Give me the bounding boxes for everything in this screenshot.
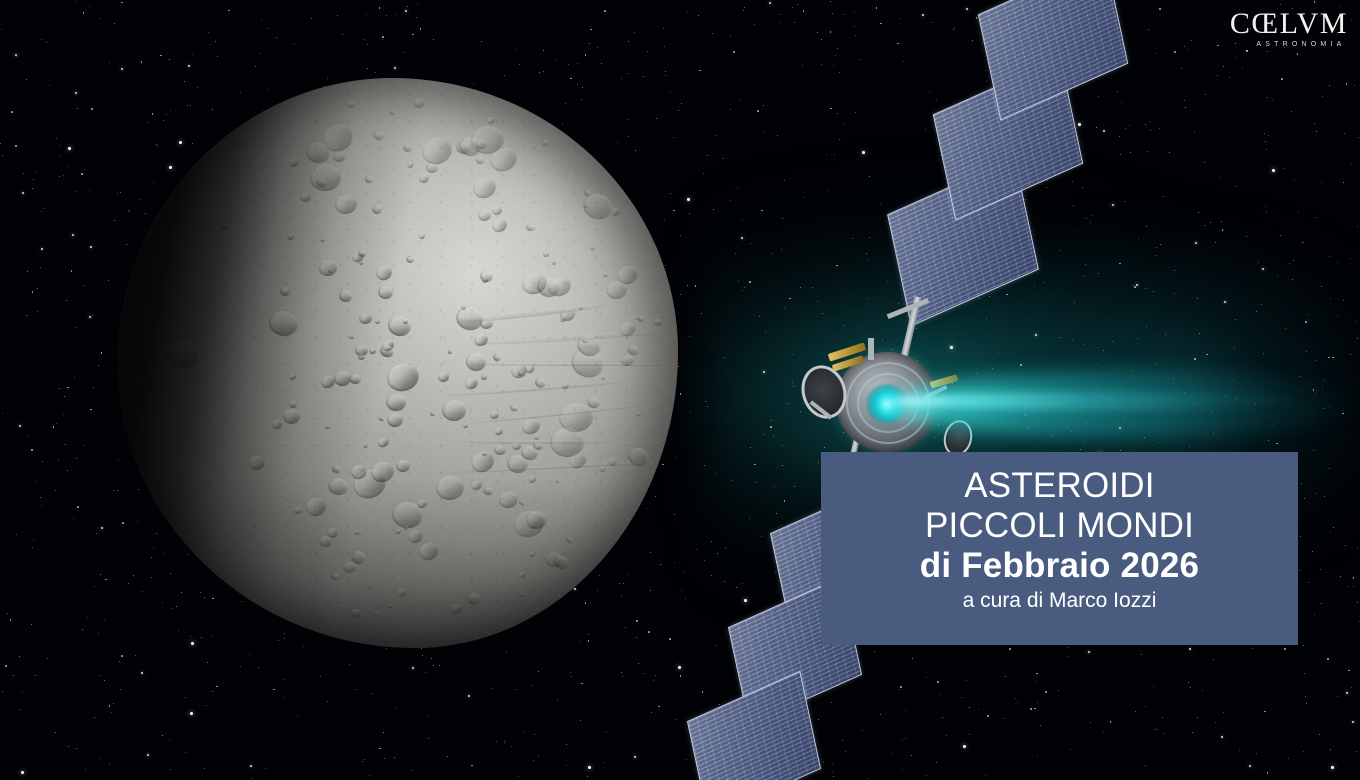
logo-wordmark: CŒLVM	[1230, 8, 1348, 40]
logo-tagline: ASTRONOMIA	[1254, 41, 1348, 48]
title-line-2: PICCOLI MONDI	[837, 506, 1282, 546]
title-line-3: di Febbraio 2026	[837, 546, 1282, 586]
poster-canvas: ASTEROIDI PICCOLI MONDI di Febbraio 2026…	[0, 0, 1360, 780]
title-line-1: ASTEROIDI	[837, 466, 1282, 506]
title-card: ASTEROIDI PICCOLI MONDI di Febbraio 2026…	[821, 452, 1298, 645]
title-subtitle: a cura di Marco Iozzi	[837, 588, 1282, 614]
coelvm-logo[interactable]: CŒLVM ASTRONOMIA	[1230, 8, 1348, 48]
space-background	[0, 0, 1360, 780]
